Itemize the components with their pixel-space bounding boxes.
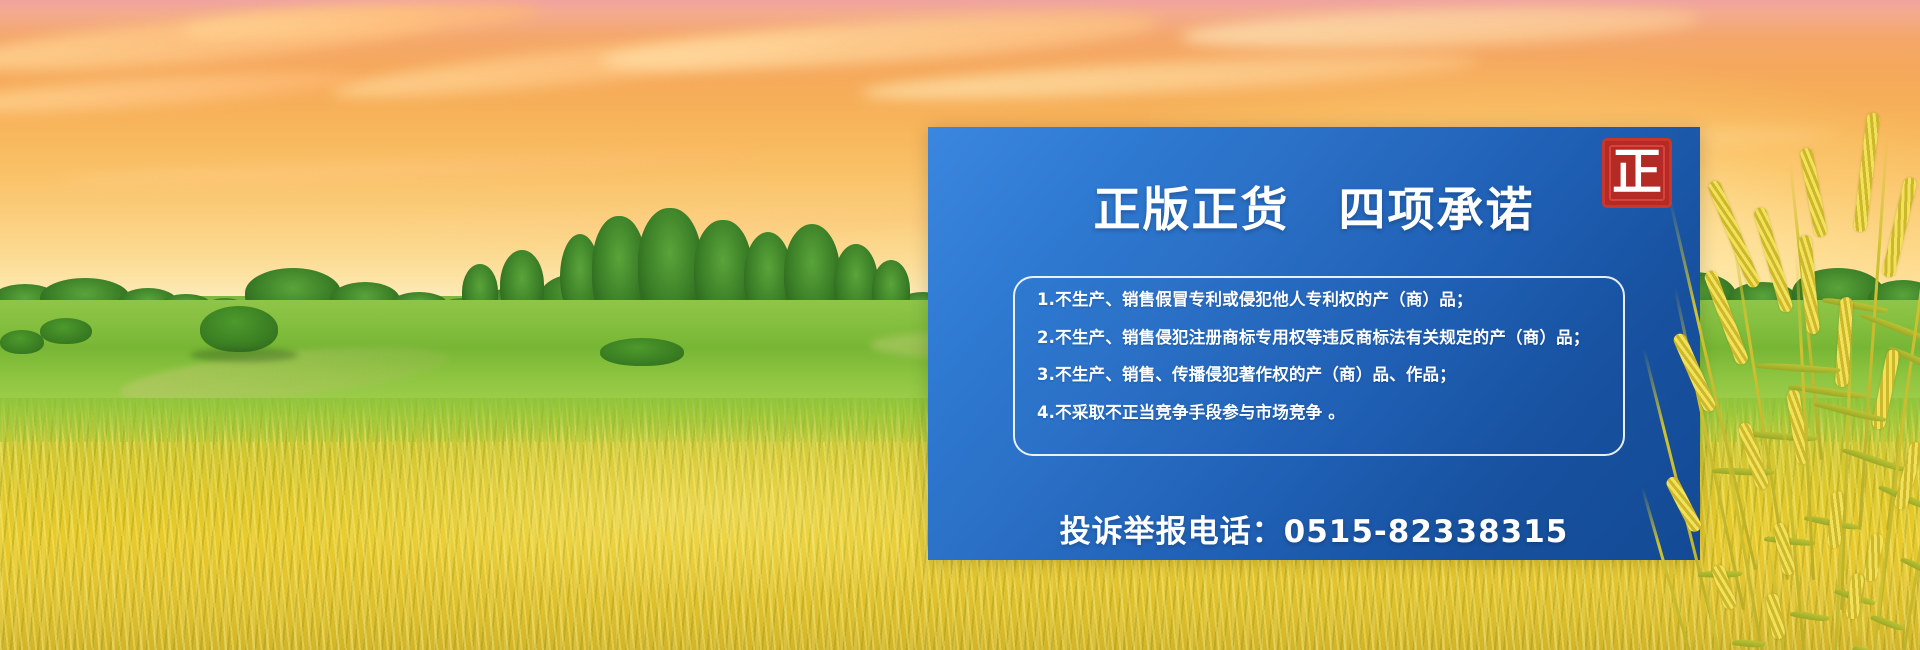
tree-shadow bbox=[190, 348, 298, 362]
commitment-panel: 正 正版正货 四项承诺 1.不生产、销售假冒专利或侵犯他人专利权的产（商）品； … bbox=[928, 127, 1700, 560]
complaint-hotline: 投诉举报电话：0515-82338315 bbox=[928, 517, 1700, 548]
commitment-item: 3.不生产、销售、传播侵犯著作权的产（商）品、作品； bbox=[1037, 367, 1601, 384]
panel-headline: 正版正货 四项承诺 bbox=[928, 187, 1700, 234]
zheng-seal-glyph: 正 bbox=[1612, 147, 1662, 197]
rice-ear bbox=[1753, 206, 1794, 314]
zheng-seal-icon: 正 bbox=[1602, 138, 1672, 208]
rice-stalks bbox=[1690, 100, 1920, 650]
promotional-banner: 正 正版正货 四项承诺 1.不生产、销售假冒专利或侵犯他人专利权的产（商）品； … bbox=[0, 0, 1920, 650]
rice-ear bbox=[1881, 176, 1918, 278]
lone-tree bbox=[200, 306, 278, 352]
shrub bbox=[0, 330, 44, 354]
rice-leaf bbox=[1756, 361, 1840, 375]
shrub bbox=[40, 318, 92, 344]
commitment-item: 2.不生产、销售侵犯注册商标专用权等违反商标法有关规定的产（商）品； bbox=[1037, 330, 1601, 347]
rice-ear bbox=[1853, 112, 1880, 233]
rice-leaf bbox=[1790, 609, 1829, 623]
rice-ear bbox=[1799, 147, 1828, 238]
commitment-item: 4.不采取不正当竞争手段参与市场竞争 。 bbox=[1037, 405, 1601, 422]
commitments-box: 1.不生产、销售假冒专利或侵犯他人专利权的产（商）品； 2.不生产、销售侵犯注册… bbox=[1013, 276, 1625, 456]
rice-ear bbox=[1703, 269, 1750, 366]
rice-leaf bbox=[1822, 295, 1888, 316]
shrub bbox=[600, 338, 684, 366]
commitment-item: 1.不生产、销售假冒专利或侵犯他人专利权的产（商）品； bbox=[1037, 292, 1601, 309]
